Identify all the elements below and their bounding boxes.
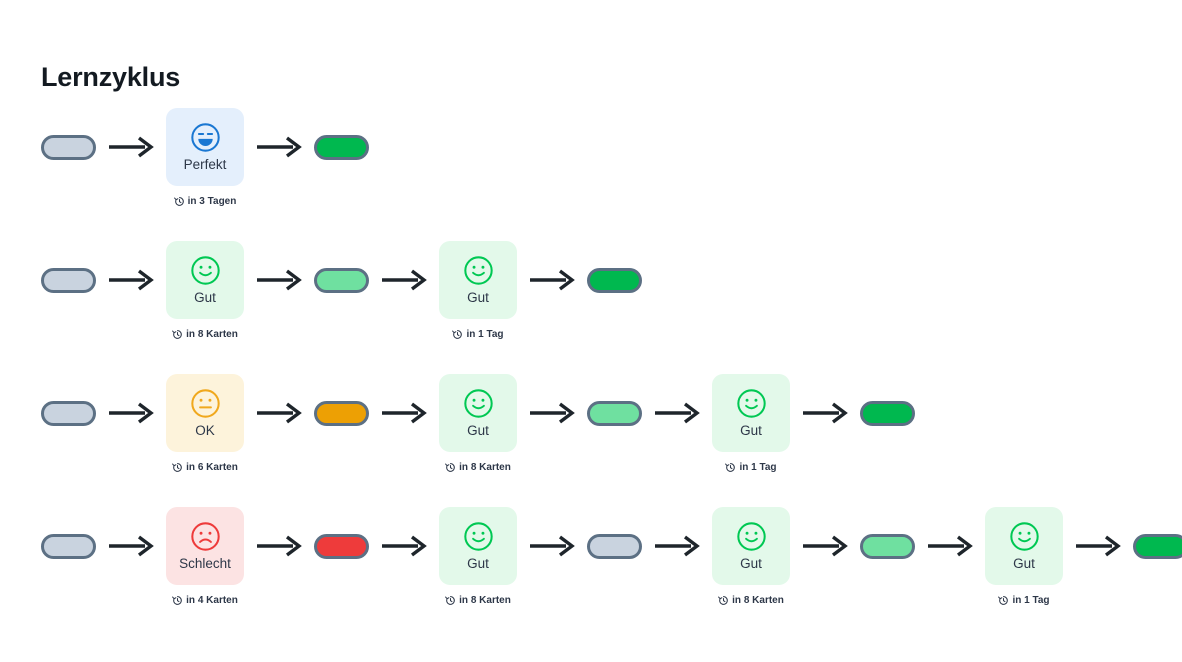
next-due-text: in 4 Karten <box>186 595 238 606</box>
rating-card-perfekt[interactable]: Perfekt <box>166 108 244 186</box>
card-state-pill-gray <box>587 507 642 607</box>
clock-history-icon <box>172 595 183 606</box>
arrow-right-icon <box>1074 507 1122 585</box>
face-smile-icon <box>463 255 494 286</box>
clock-history-icon <box>174 196 185 207</box>
pill-wrapper <box>314 241 369 319</box>
arrow-right-icon <box>653 507 701 585</box>
arrow-right-icon <box>380 374 428 452</box>
rating-label: Gut <box>467 557 489 571</box>
card-state-pill-orange <box>314 374 369 474</box>
card-state-pill-red <box>314 507 369 607</box>
pill-wrapper <box>41 507 96 585</box>
face-smile-icon <box>736 521 767 552</box>
pill-green <box>1133 534 1182 559</box>
next-due-caption: in 1 Tag <box>998 595 1049 606</box>
pill-red <box>314 534 369 559</box>
clock-history-icon <box>172 329 183 340</box>
rating-cell-gut: Gutin 8 Karten <box>712 507 790 606</box>
pill-green <box>860 401 915 426</box>
card-state-pill-green <box>314 108 369 208</box>
pill-lightgreen <box>860 534 915 559</box>
next-due-text: in 6 Karten <box>186 462 238 473</box>
card-state-pill-gray <box>41 507 96 607</box>
arrow-right-icon <box>107 374 155 452</box>
pill-wrapper <box>41 374 96 452</box>
pill-gray <box>587 534 642 559</box>
rating-cell-schlecht: Schlechtin 4 Karten <box>166 507 244 606</box>
pill-lightgreen <box>314 268 369 293</box>
rating-label: Gut <box>194 291 216 305</box>
face-neutral-icon <box>190 388 221 419</box>
pill-wrapper <box>587 374 642 452</box>
row-ok: OKin 6 KartenGutin 8 KartenGutin 1 Tag <box>0 374 1182 507</box>
card-state-pill-green <box>587 241 642 341</box>
rating-label: Perfekt <box>184 158 227 172</box>
arrow-right-icon <box>528 374 576 452</box>
face-smile-icon <box>736 388 767 419</box>
pill-wrapper <box>587 507 642 585</box>
rating-cell-gut: Gutin 8 Karten <box>439 374 517 473</box>
next-due-caption: in 8 Karten <box>172 329 238 340</box>
rating-card-gut[interactable]: Gut <box>712 507 790 585</box>
next-due-text: in 8 Karten <box>459 595 511 606</box>
row-perfekt: Perfektin 3 Tagen <box>0 108 1182 241</box>
pill-wrapper <box>314 108 369 186</box>
rating-cell-ok: OKin 6 Karten <box>166 374 244 473</box>
rating-card-schlecht[interactable]: Schlecht <box>166 507 244 585</box>
clock-history-icon <box>172 462 183 473</box>
card-state-pill-lightgreen <box>587 374 642 474</box>
pill-green <box>587 268 642 293</box>
pill-wrapper <box>314 507 369 585</box>
card-state-pill-gray <box>41 374 96 474</box>
rating-cell-gut: Gutin 8 Karten <box>166 241 244 340</box>
clock-history-icon <box>718 595 729 606</box>
pill-wrapper <box>587 241 642 319</box>
arrow-right-icon <box>255 507 303 585</box>
face-smile-icon <box>1009 521 1040 552</box>
arrow-right-icon <box>255 241 303 319</box>
rating-label: Gut <box>1013 557 1035 571</box>
rating-cell-perfekt: Perfektin 3 Tagen <box>166 108 244 207</box>
rating-card-gut[interactable]: Gut <box>439 241 517 319</box>
arrow-right-icon <box>528 241 576 319</box>
rating-label: OK <box>195 424 215 438</box>
clock-history-icon <box>725 462 736 473</box>
pill-wrapper <box>314 374 369 452</box>
pill-wrapper <box>1133 507 1182 585</box>
next-due-text: in 1 Tag <box>466 329 503 340</box>
arrow-right-icon <box>801 374 849 452</box>
pill-gray <box>41 534 96 559</box>
pill-gray <box>41 135 96 160</box>
rating-label: Gut <box>467 424 489 438</box>
rating-label: Gut <box>467 291 489 305</box>
pill-gray <box>41 401 96 426</box>
face-smile-icon <box>463 521 494 552</box>
pill-lightgreen <box>587 401 642 426</box>
clock-history-icon <box>445 462 456 473</box>
pill-wrapper <box>860 374 915 452</box>
rating-label: Gut <box>740 424 762 438</box>
rating-card-gut[interactable]: Gut <box>439 374 517 452</box>
pill-wrapper <box>41 241 96 319</box>
rating-label: Gut <box>740 557 762 571</box>
row-schlecht: Schlechtin 4 KartenGutin 8 KartenGutin 8… <box>0 507 1182 640</box>
card-state-pill-gray <box>41 241 96 341</box>
face-frown-icon <box>190 521 221 552</box>
card-state-pill-lightgreen <box>314 241 369 341</box>
clock-history-icon <box>998 595 1009 606</box>
clock-history-icon <box>452 329 463 340</box>
next-due-caption: in 1 Tag <box>725 462 776 473</box>
rating-card-ok[interactable]: OK <box>166 374 244 452</box>
card-state-pill-green <box>1133 507 1182 607</box>
arrow-right-icon <box>528 507 576 585</box>
arrow-right-icon <box>107 507 155 585</box>
arrow-right-icon <box>653 374 701 452</box>
pill-gray <box>41 268 96 293</box>
rating-cell-gut: Gutin 1 Tag <box>712 374 790 473</box>
arrow-right-icon <box>801 507 849 585</box>
rating-card-gut[interactable]: Gut <box>985 507 1063 585</box>
next-due-caption: in 3 Tagen <box>174 196 237 207</box>
clock-history-icon <box>445 595 456 606</box>
pill-orange <box>314 401 369 426</box>
rating-cell-gut: Gutin 8 Karten <box>439 507 517 606</box>
next-due-text: in 8 Karten <box>732 595 784 606</box>
arrow-right-icon <box>255 108 303 186</box>
arrow-right-icon <box>926 507 974 585</box>
rating-label: Schlecht <box>179 557 231 571</box>
row-gut: Gutin 8 KartenGutin 1 Tag <box>0 241 1182 374</box>
rating-card-gut[interactable]: Gut <box>439 507 517 585</box>
rating-cell-gut: Gutin 1 Tag <box>985 507 1063 606</box>
pill-wrapper <box>860 507 915 585</box>
rating-cell-gut: Gutin 1 Tag <box>439 241 517 340</box>
arrow-right-icon <box>255 374 303 452</box>
rating-card-gut[interactable]: Gut <box>166 241 244 319</box>
face-smile-icon <box>463 388 494 419</box>
face-grin-icon <box>190 122 221 153</box>
card-state-pill-gray <box>41 108 96 208</box>
next-due-caption: in 6 Karten <box>172 462 238 473</box>
rating-card-gut[interactable]: Gut <box>712 374 790 452</box>
arrow-right-icon <box>380 241 428 319</box>
next-due-text: in 3 Tagen <box>188 196 237 207</box>
next-due-text: in 1 Tag <box>739 462 776 473</box>
next-due-caption: in 8 Karten <box>445 462 511 473</box>
next-due-caption: in 8 Karten <box>445 595 511 606</box>
next-due-text: in 8 Karten <box>459 462 511 473</box>
learning-cycle-diagram: Perfektin 3 TagenGutin 8 KartenGutin 1 T… <box>0 108 1182 640</box>
next-due-caption: in 8 Karten <box>718 595 784 606</box>
pill-wrapper <box>41 108 96 186</box>
next-due-caption: in 1 Tag <box>452 329 503 340</box>
arrow-right-icon <box>107 108 155 186</box>
page-title: Lernzyklus <box>41 62 180 93</box>
face-smile-icon <box>190 255 221 286</box>
next-due-caption: in 4 Karten <box>172 595 238 606</box>
pill-green <box>314 135 369 160</box>
arrow-right-icon <box>380 507 428 585</box>
next-due-text: in 1 Tag <box>1012 595 1049 606</box>
card-state-pill-lightgreen <box>860 507 915 607</box>
next-due-text: in 8 Karten <box>186 329 238 340</box>
arrow-right-icon <box>107 241 155 319</box>
card-state-pill-green <box>860 374 915 474</box>
